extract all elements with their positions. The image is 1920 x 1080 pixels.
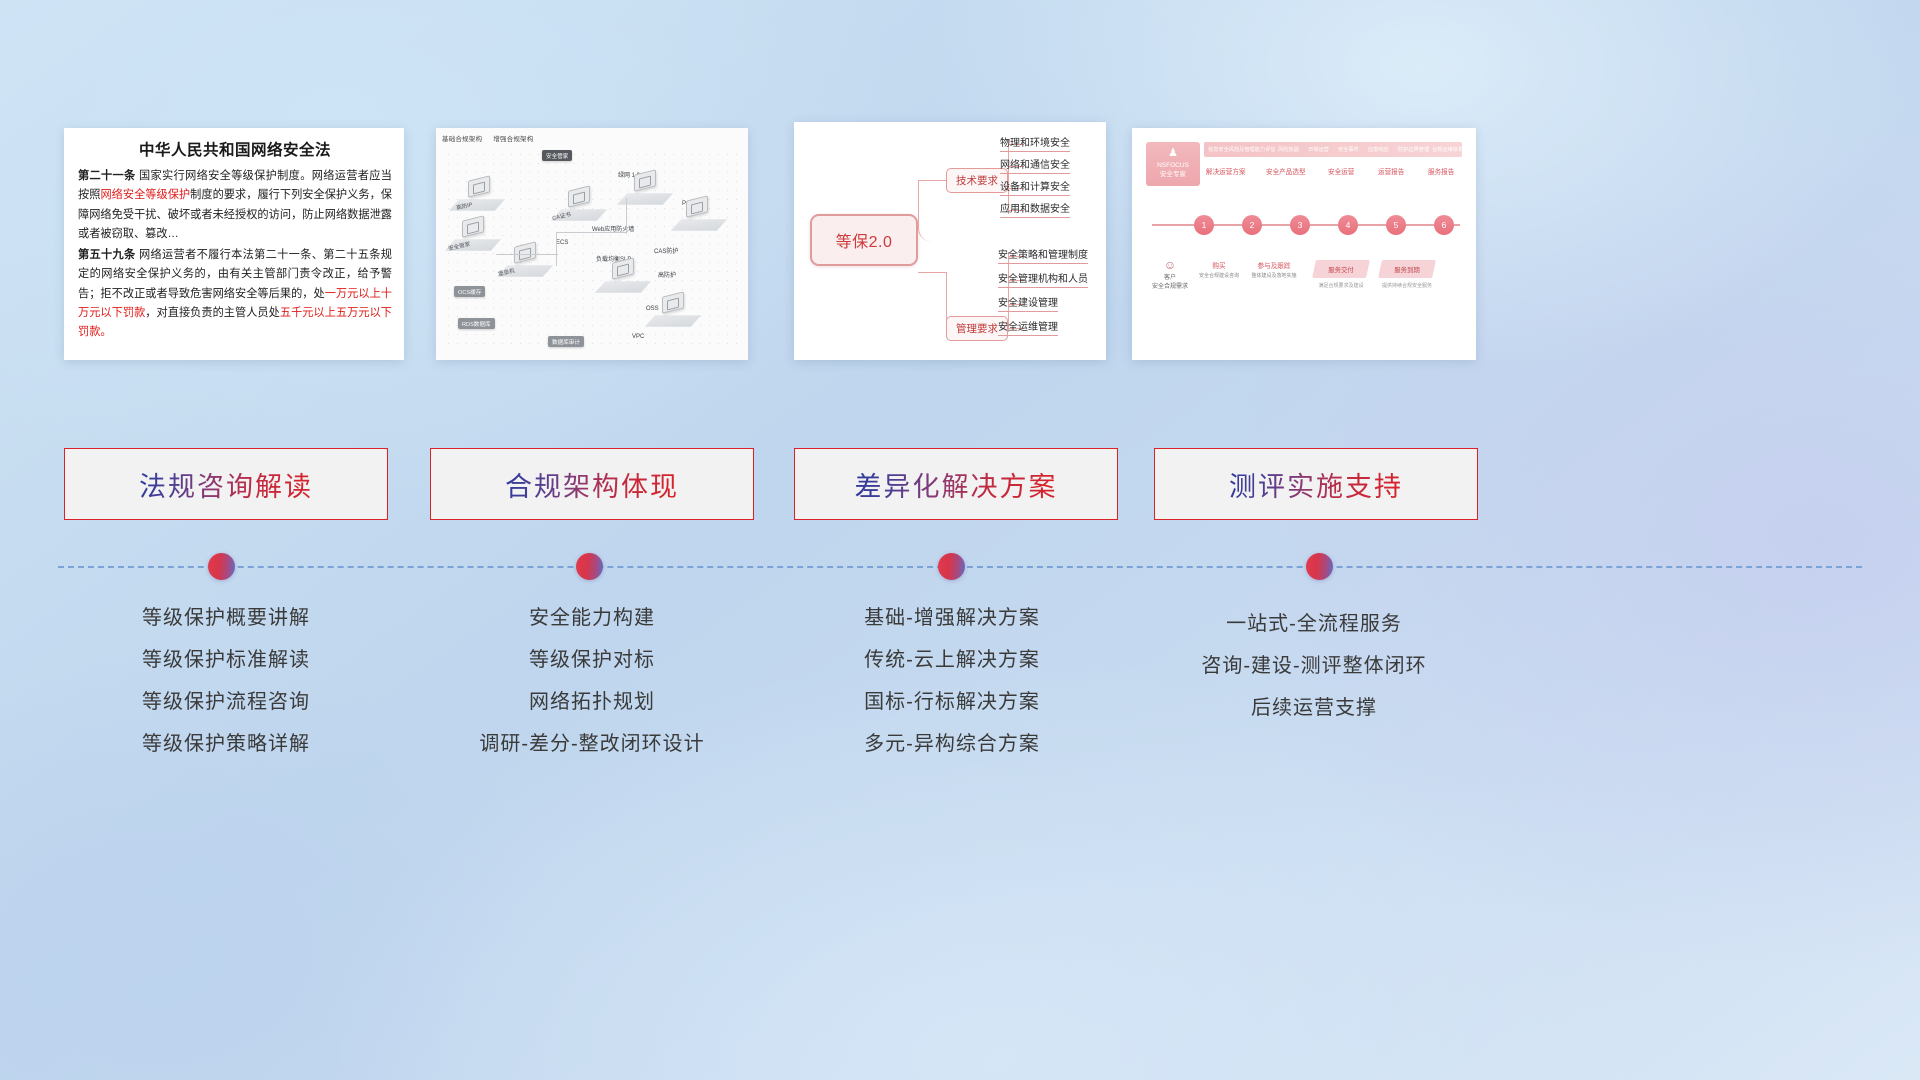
customer-icon: ☺	[1146, 256, 1194, 274]
law-article-59-label: 第五十九条	[78, 249, 136, 261]
diagram-connector	[626, 198, 627, 234]
nsfocus-diagram: ♟ NSFOCUS 安全专家 信息安全风险及管理能力评估 风险加固 日常运营 安…	[1132, 128, 1476, 360]
bullet-item: 等级保护策略详解	[40, 734, 412, 754]
headline-text-1: 法规咨询解读	[139, 465, 313, 504]
law-article-59: 第五十九条 网络运营者不履行本法第二十一条、第二十五条规定的网络安全保护义务的，…	[78, 246, 392, 342]
bullet-item: 安全能力构建	[406, 608, 778, 628]
bullet-item: 传统-云上解决方案	[766, 650, 1138, 670]
diagram-tabs: 基础合规架构 增强合规架构	[442, 133, 542, 143]
law-article-21: 第二十一条 国家实行网络安全等级保护制度。网络运营者应当按照网络安全等级保护制度…	[78, 167, 392, 244]
nsfocus-sub-item: 服务报告	[1428, 166, 1454, 176]
mindmap-leaf-policy: 安全策略和管理制度	[998, 246, 1088, 264]
diagram-pill-ocs: OCS缓存	[454, 286, 485, 297]
nsfocus-bottom-label-sub: 整体建设及落地实施	[1244, 272, 1304, 279]
mindmap-leaf-application: 应用和数据安全	[1000, 200, 1070, 218]
diagram-label-cas: CAS防护	[654, 246, 678, 255]
law-article-21-label: 第二十一条	[78, 170, 136, 182]
nsfocus-sub-item: 安全运营	[1328, 166, 1354, 176]
law-article-21-highlight: 网络安全等级保护	[100, 189, 190, 201]
bullet-column-1: 等级保护概要讲解 等级保护标准解读 等级保护流程咨询 等级保护策略详解	[40, 608, 412, 776]
nsfocus-step-1: 1	[1194, 215, 1214, 235]
nsfocus-tag-3-sub: 满足合规要求及建设	[1308, 282, 1374, 289]
mindmap-leaf-org: 安全管理机构和人员	[998, 270, 1088, 288]
mindmap-connector	[918, 272, 946, 273]
nsfocus-topbar-item: 日常运营	[1308, 146, 1329, 153]
nsfocus-tag-3: 服务交付	[1312, 260, 1370, 278]
nsfocus-subheadings: 解决运营方案 安全产品选型 安全运营 运营报告 服务报告	[1204, 162, 1462, 184]
headline-text-3: 差异化解决方案	[855, 465, 1058, 504]
nsfocus-sub-item: 安全产品选型	[1266, 166, 1306, 176]
nsfocus-tag-label: 服务到期	[1380, 260, 1434, 278]
law-title: 中华人民共和国网络安全法	[78, 138, 392, 160]
nsfocus-customer: ☺ 客户 安全合规需求	[1146, 256, 1194, 292]
nsfocus-step-2: 2	[1242, 215, 1262, 235]
headline-box-3[interactable]: 差异化解决方案	[794, 448, 1118, 520]
bullet-item: 基础-增强解决方案	[766, 608, 1138, 628]
diagram-label-oss: OSS	[646, 306, 659, 312]
diagram-connector	[556, 232, 626, 233]
headline-box-2[interactable]: 合规架构体现	[430, 448, 754, 520]
mindmap-leaf-device: 设备和计算安全	[1000, 178, 1070, 196]
nsfocus-bottom-label-sub: 安全合规建设咨询	[1194, 272, 1244, 279]
bullet-column-2: 安全能力构建 等级保护对标 网络拓扑规划 调研-差分-整改闭环设计	[406, 608, 778, 776]
mindmap-leaf-physical: 物理和环境安全	[1000, 134, 1070, 152]
nsfocus-bottom-label-text: 参与及跟踪	[1258, 263, 1291, 270]
slide-canvas: 中华人民共和国网络安全法 第二十一条 国家实行网络安全等级保护制度。网络运营者应…	[0, 0, 1920, 1080]
nsfocus-bottom-label-2: 参与及跟踪 整体建设及落地实施	[1244, 260, 1304, 279]
nsfocus-step-4: 4	[1338, 215, 1358, 235]
nsfocus-bottom-label-1: 购买 安全合规建设咨询	[1194, 260, 1244, 279]
nsfocus-brand-block: ♟ NSFOCUS 安全专家	[1146, 142, 1200, 186]
nsfocus-topbar-item: 安全事件	[1338, 146, 1359, 153]
bullet-column-4: 一站式-全流程服务 咨询-建设-测评整体闭环 后续运营支撑	[1128, 614, 1500, 740]
bullet-item: 等级保护流程咨询	[40, 692, 412, 712]
diagram-tab-enhanced[interactable]: 增强合规架构	[493, 136, 533, 143]
nsfocus-topbar-item: 合规运维体系建设	[1432, 146, 1474, 153]
timeline-dot-3[interactable]	[938, 553, 965, 580]
bullet-item: 等级保护对标	[406, 650, 778, 670]
nsfocus-tag-4: 服务到期	[1378, 260, 1436, 278]
diagram-label-ecs: ECS	[556, 240, 568, 246]
headline-text-4: 测评实施支持	[1229, 465, 1403, 504]
diagram-node-title: 安全管家	[542, 150, 572, 161]
diagram-label-gaofanghu: 高防护	[658, 270, 676, 279]
thumbnail-card-architecture[interactable]: 基础合规架构 增强合规架构 安全管家 高防IP 安全管家 堡垒机 CA证书 OC…	[436, 128, 748, 360]
nsfocus-brand-sub: 安全专家	[1160, 171, 1186, 178]
diagram-pill-dbaudit: 数据库审计	[548, 336, 584, 347]
law-document: 中华人民共和国网络安全法 第二十一条 国家实行网络安全等级保护制度。网络运营者应…	[64, 128, 404, 350]
nsfocus-customer-label: 客户	[1164, 275, 1176, 281]
architecture-diagram: 基础合规架构 增强合规架构 安全管家 高防IP 安全管家 堡垒机 CA证书 OC…	[436, 128, 748, 360]
bullet-item: 多元-异构综合方案	[766, 734, 1138, 754]
diagram-connector	[496, 254, 558, 255]
bullet-item: 一站式-全流程服务	[1128, 614, 1500, 634]
headline-box-4[interactable]: 测评实施支持	[1154, 448, 1478, 520]
nsfocus-step-3: 3	[1290, 215, 1310, 235]
nsfocus-axis: 1 2 3 4 5 6	[1152, 224, 1460, 226]
nsfocus-sub-item: 运营报告	[1378, 166, 1404, 176]
timeline-dot-4[interactable]	[1306, 553, 1333, 580]
diagram-tab-basic[interactable]: 基础合规架构	[442, 136, 482, 143]
diagram-pill-rds: RDS数据库	[458, 318, 495, 329]
bullet-item: 网络拓扑规划	[406, 692, 778, 712]
expert-icon: ♟	[1146, 146, 1200, 161]
bullet-item: 调研-差分-整改闭环设计	[406, 734, 778, 754]
nsfocus-topbar-item: 信息安全风险及管理能力评估	[1208, 146, 1275, 153]
nsfocus-bottom-label-text: 购买	[1212, 263, 1225, 270]
mindmap-connector	[918, 180, 946, 242]
nsfocus-sub-item: 解决运营方案	[1206, 166, 1246, 176]
mindmap-leaf-operation: 安全运维管理	[998, 318, 1058, 336]
mindmap-root: 等保2.0	[810, 214, 918, 266]
timeline-dot-1[interactable]	[208, 553, 235, 580]
nsfocus-top-bar: 信息安全风险及管理能力评估 风险加固 日常运营 安全事件 应急响应 防护边界管理…	[1204, 142, 1462, 157]
thumbnail-card-nsfocus[interactable]: ♟ NSFOCUS 安全专家 信息安全风险及管理能力评估 风险加固 日常运营 安…	[1132, 128, 1476, 360]
bullet-column-3: 基础-增强解决方案 传统-云上解决方案 国标-行标解决方案 多元-异构综合方案	[766, 608, 1138, 776]
nsfocus-step-5: 5	[1386, 215, 1406, 235]
bullet-item: 咨询-建设-测评整体闭环	[1128, 656, 1500, 676]
bullet-item: 国标-行标解决方案	[766, 692, 1138, 712]
mindmap-branch-technical: 技术要求	[946, 168, 1008, 193]
nsfocus-tag-label: 服务交付	[1314, 260, 1368, 278]
nsfocus-tag-4-sub: 提供持续合规安全服务	[1374, 282, 1440, 289]
nsfocus-customer-sub: 安全合规需求	[1152, 284, 1188, 290]
nsfocus-topbar-item: 防护边界管理	[1398, 146, 1429, 153]
headline-text-2: 合规架构体现	[505, 465, 679, 504]
mindmap-leaf-build: 安全建设管理	[998, 294, 1058, 312]
mindmap-leaf-network: 网络和通信安全	[1000, 156, 1070, 174]
thumbnail-card-law[interactable]: 中华人民共和国网络安全法 第二十一条 国家实行网络安全等级保护制度。网络运营者应…	[64, 128, 404, 360]
diagram-label-vpc: VPC	[632, 334, 644, 340]
nsfocus-topbar-item: 应急响应	[1368, 146, 1389, 153]
diagram-connector	[556, 232, 557, 266]
bullet-item: 等级保护标准解读	[40, 650, 412, 670]
bullet-item: 等级保护概要讲解	[40, 608, 412, 628]
nsfocus-topbar-item: 风险加固	[1278, 146, 1299, 153]
timeline-dot-2[interactable]	[576, 553, 603, 580]
bullet-item: 后续运营支撑	[1128, 698, 1500, 718]
mindmap-diagram: 等保2.0 技术要求 管理要求 物理和环境安全 网络和通信安全 设备和计算安全 …	[794, 122, 1106, 360]
nsfocus-step-6: 6	[1434, 215, 1454, 235]
nsfocus-brand: NSFOCUS	[1157, 162, 1189, 169]
headline-box-1[interactable]: 法规咨询解读	[64, 448, 388, 520]
thumbnail-card-mindmap[interactable]: 等保2.0 技术要求 管理要求 物理和环境安全 网络和通信安全 设备和计算安全 …	[794, 122, 1106, 360]
law-article-59-text-2: ，对直接负责的主管人员处	[145, 307, 280, 319]
